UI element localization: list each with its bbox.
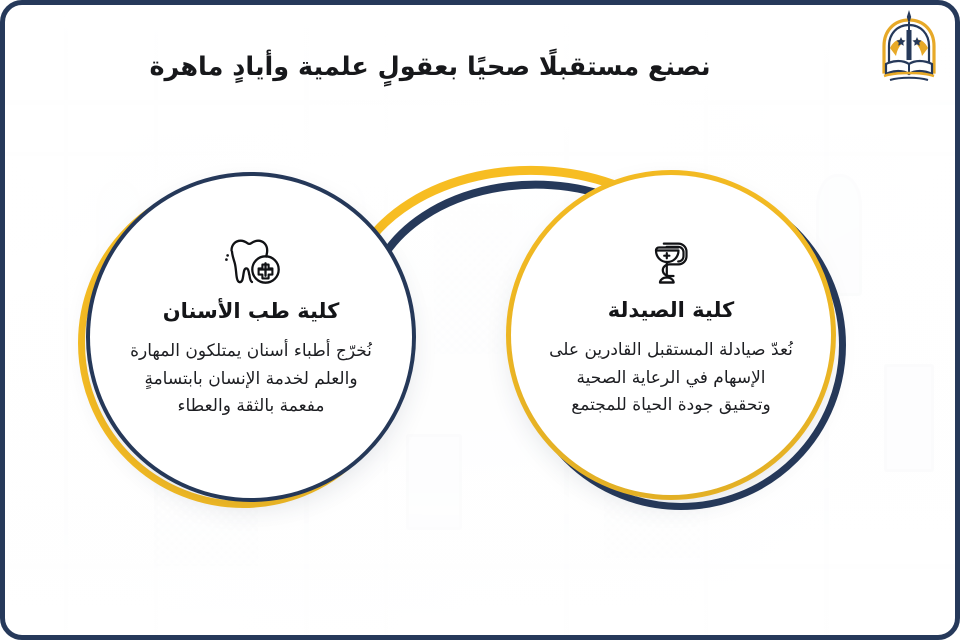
card-disc: كلية الصيدلة نُعدّ صيادلة المستقبل القاد… <box>511 175 831 495</box>
poster-canvas: كلية طب الأسنان نُخرّج أطباء أسنان يمتلك… <box>0 0 960 640</box>
crest-base-scroll <box>890 78 928 80</box>
university-crest-logo <box>876 8 942 86</box>
card-description: نُخرّج أطباء أسنان يمتلكون المهارة والعل… <box>129 338 374 421</box>
card-dentistry[interactable]: كلية طب الأسنان نُخرّج أطباء أسنان يمتلك… <box>78 172 408 502</box>
tooth-with-medical-cross-icon <box>218 236 284 288</box>
card-title: كلية طب الأسنان <box>163 298 340 324</box>
bowl-of-hygieia-pharmacy-icon <box>644 235 698 287</box>
crest-pillar <box>907 30 912 60</box>
card-title: كلية الصيدلة <box>608 297 735 323</box>
card-description: نُعدّ صيادلة المستقبل القادرين على الإسه… <box>549 337 794 420</box>
card-disc: كلية طب الأسنان نُخرّج أطباء أسنان يمتلك… <box>90 176 412 498</box>
card-pharmacy[interactable]: كلية الصيدلة نُعدّ صيادلة المستقبل القاد… <box>506 170 846 510</box>
crest-finial <box>907 10 911 24</box>
header: نصنع مستقبلًا صحيًا بعقولٍ علمية وأيادٍ … <box>0 0 960 118</box>
page-title: نصنع مستقبلًا صحيًا بعقولٍ علمية وأيادٍ … <box>0 52 860 82</box>
